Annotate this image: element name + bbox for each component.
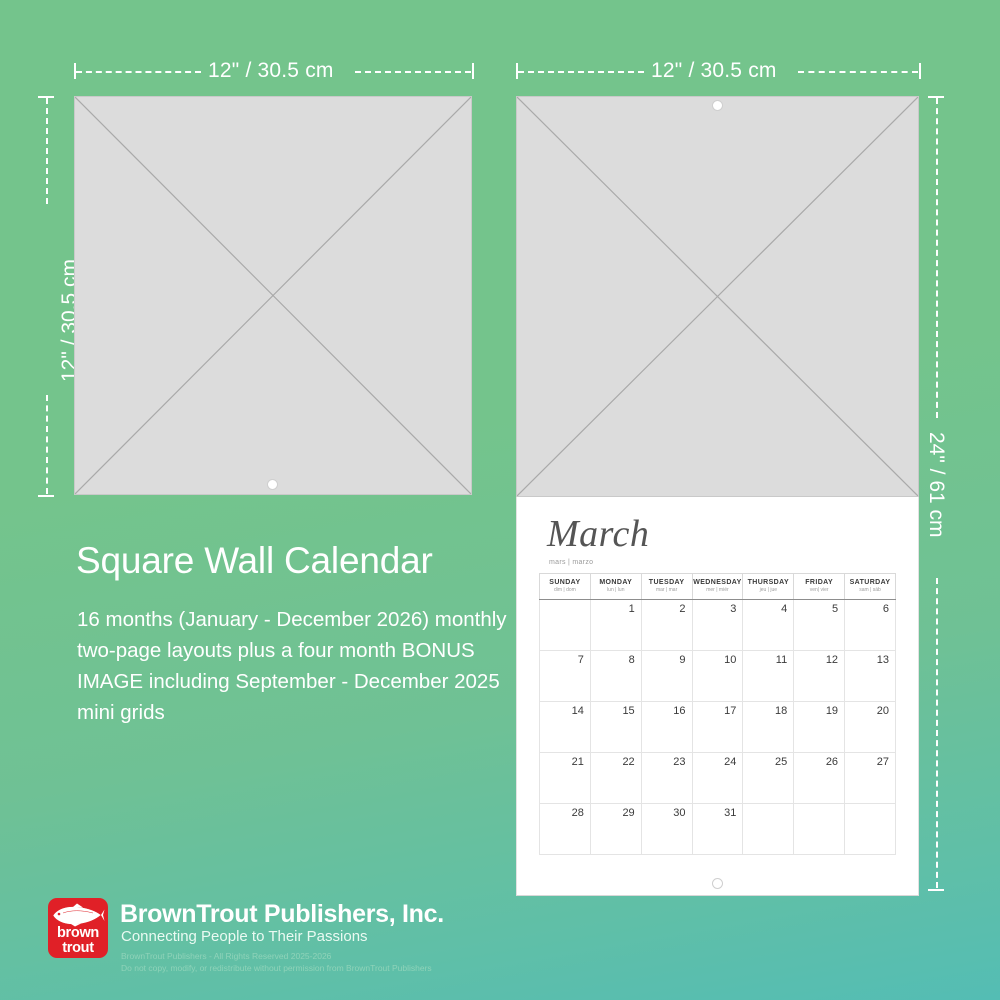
calendar-day-cell[interactable]: 6	[845, 600, 896, 651]
dow-sublabel: dim | dom	[540, 587, 590, 593]
footer: brown trout BrownTrout Publishers, Inc. …	[48, 898, 478, 968]
calendar-month-title: March	[547, 515, 649, 553]
dim-line-right-vert-b	[936, 578, 938, 888]
calendar-week-row: 21 22 23 24 25 26 27	[540, 753, 896, 804]
dow-label: THURSDAY	[743, 579, 793, 588]
legal-notice: BrownTrout Publishers - All Rights Reser…	[121, 950, 432, 975]
dow-label: TUESDAY	[642, 579, 692, 588]
browntrout-logo[interactable]: brown trout	[48, 898, 108, 958]
calendar-day-cell[interactable]: 14	[540, 702, 591, 753]
calendar-header-monday: MONDAY lun | lun	[590, 574, 641, 600]
dim-label-top-left: 12" / 30.5 cm	[208, 59, 334, 83]
calendar-day-cell[interactable]	[540, 600, 591, 651]
calendar-header-row: SUNDAY dim | dom MONDAY lun | lun TUESDA…	[540, 574, 896, 600]
calendar-day-cell[interactable]: 25	[743, 753, 794, 804]
calendar-day-cell[interactable]: 22	[590, 753, 641, 804]
calendar-day-cell[interactable]: 1	[590, 600, 641, 651]
calendar-day-cell[interactable]: 19	[794, 702, 845, 753]
calendar-day-cell[interactable]: 30	[641, 804, 692, 855]
calendar-day-cell[interactable]: 15	[590, 702, 641, 753]
left-cover-panel	[74, 96, 472, 495]
calendar-day-cell[interactable]: 2	[641, 600, 692, 651]
dow-label: FRIDAY	[794, 579, 844, 588]
calendar-week-row: 28 29 30 31	[540, 804, 896, 855]
calendar-week-row: 14 15 16 17 18 19 20	[540, 702, 896, 753]
calendar-day-cell[interactable]: 18	[743, 702, 794, 753]
dim-tick-left-top-end	[472, 63, 474, 79]
dow-label: MONDAY	[591, 579, 641, 588]
dim-tick-right-top-end	[919, 63, 921, 79]
logo-word-brown: brown	[48, 926, 108, 941]
calendar-day-cell[interactable]	[794, 804, 845, 855]
dow-label: SUNDAY	[540, 579, 590, 588]
calendar-day-cell[interactable]	[845, 804, 896, 855]
calendar-day-cell[interactable]: 12	[794, 651, 845, 702]
hole-punch-right-panel-top	[712, 100, 723, 111]
page-title: Square Wall Calendar	[76, 540, 433, 582]
dow-label: WEDNESDAY	[693, 579, 743, 588]
dim-label-top-right: 12" / 30.5 cm	[651, 59, 777, 83]
dim-line-top-right-b	[798, 71, 918, 73]
calendar-header-sunday: SUNDAY dim | dom	[540, 574, 591, 600]
calendar-day-cell[interactable]	[743, 804, 794, 855]
calendar-day-cell[interactable]: 16	[641, 702, 692, 753]
brand-tagline: Connecting People to Their Passions	[121, 928, 368, 945]
dim-line-left-vert-a	[46, 98, 48, 204]
right-cover-panel	[516, 96, 919, 497]
dim-tick-left-vert-bottom	[38, 495, 54, 497]
calendar-header-thursday: THURSDAY jeu | jue	[743, 574, 794, 600]
calendar-day-cell[interactable]: 20	[845, 702, 896, 753]
dim-label-right-vertical: 24" / 61 cm	[924, 432, 948, 538]
calendar-day-cell[interactable]: 13	[845, 651, 896, 702]
hole-punch-left-panel	[267, 479, 278, 490]
calendar-grid-wrapper: SUNDAY dim | dom MONDAY lun | lun TUESDA…	[539, 573, 896, 855]
dow-sublabel: lun | lun	[591, 587, 641, 593]
dim-line-left-vert-b	[46, 395, 48, 494]
dow-sublabel: sam | sáb	[845, 587, 895, 593]
dow-sublabel: ven| vier	[794, 587, 844, 593]
calendar-day-cell[interactable]: 7	[540, 651, 591, 702]
calendar-day-cell[interactable]: 4	[743, 600, 794, 651]
calendar-day-cell[interactable]: 10	[692, 651, 743, 702]
calendar-day-cell[interactable]: 17	[692, 702, 743, 753]
dow-label: SATURDAY	[845, 579, 895, 588]
calendar-day-cell[interactable]: 29	[590, 804, 641, 855]
calendar-day-cell[interactable]: 3	[692, 600, 743, 651]
calendar-day-cell[interactable]: 8	[590, 651, 641, 702]
hole-punch-right-panel-bottom	[712, 878, 723, 889]
dow-sublabel: jeu | jue	[743, 587, 793, 593]
brand-name: BrownTrout Publishers, Inc.	[120, 900, 444, 929]
trout-fish-icon	[51, 903, 105, 927]
calendar-grid: SUNDAY dim | dom MONDAY lun | lun TUESDA…	[539, 573, 896, 855]
calendar-day-cell[interactable]: 21	[540, 753, 591, 804]
product-description: 16 months (January - December 2026) mont…	[77, 604, 519, 729]
calendar-page: March mars | marzo SUNDAY dim | dom MOND…	[516, 497, 919, 896]
calendar-day-cell[interactable]: 26	[794, 753, 845, 804]
dim-line-top-right-a	[518, 71, 644, 73]
logo-wordmark: brown trout	[48, 926, 108, 956]
dow-sublabel: mer | miér	[693, 587, 743, 593]
calendar-header-friday: FRIDAY ven| vier	[794, 574, 845, 600]
calendar-week-row: 7 8 9 10 11 12 13	[540, 651, 896, 702]
dim-line-top-left-a	[76, 71, 201, 73]
logo-word-trout: trout	[48, 941, 108, 956]
dim-line-top-left-b	[355, 71, 471, 73]
calendar-day-cell[interactable]: 11	[743, 651, 794, 702]
calendar-day-cell[interactable]: 23	[641, 753, 692, 804]
calendar-day-cell[interactable]: 9	[641, 651, 692, 702]
calendar-day-cell[interactable]: 28	[540, 804, 591, 855]
calendar-day-cell[interactable]: 27	[845, 753, 896, 804]
dow-sublabel: mar | mar	[642, 587, 692, 593]
calendar-header-tuesday: TUESDAY mar | mar	[641, 574, 692, 600]
calendar-day-cell[interactable]: 5	[794, 600, 845, 651]
calendar-header-wednesday: WEDNESDAY mer | miér	[692, 574, 743, 600]
legal-line-2: Do not copy, modify, or redistribute wit…	[121, 962, 432, 974]
calendar-header-saturday: SATURDAY sam | sáb	[845, 574, 896, 600]
calendar-day-cell[interactable]: 31	[692, 804, 743, 855]
calendar-month-subtitle: mars | marzo	[549, 559, 593, 566]
dim-line-right-vert-a	[936, 98, 938, 418]
product-promo-page: 12" / 30.5 cm 12" / 30.5 cm 12" / 30.5 c…	[0, 0, 1000, 1000]
dim-tick-right-vert-bottom	[928, 889, 944, 891]
calendar-day-cell[interactable]: 24	[692, 753, 743, 804]
placeholder-diagonals-right	[517, 97, 918, 496]
placeholder-diagonals	[75, 97, 471, 494]
legal-line-1: BrownTrout Publishers - All Rights Reser…	[121, 950, 432, 962]
calendar-week-row: 1 2 3 4 5 6	[540, 600, 896, 651]
